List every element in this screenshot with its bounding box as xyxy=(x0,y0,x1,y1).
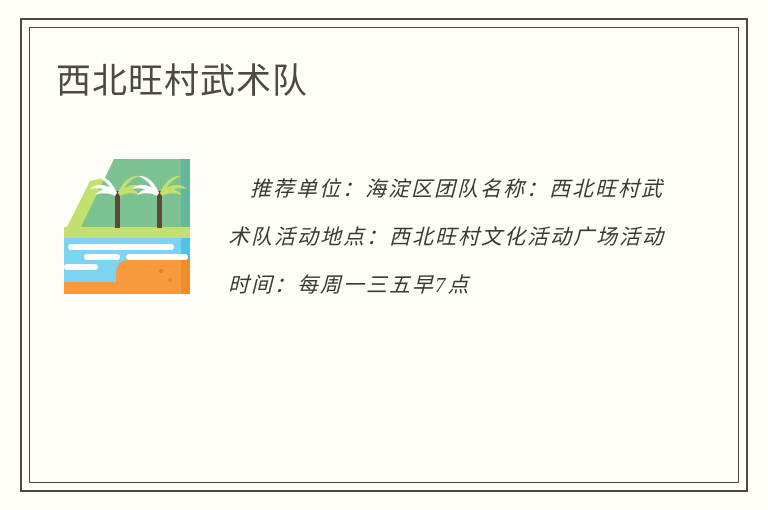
card-details-text: 推荐单位：海淀区团队名称：西北旺村武术队活动地点：西北旺村文化活动广场活动时间：… xyxy=(228,165,680,309)
page-title: 西北旺村武术队 xyxy=(56,60,308,104)
detail-location: 活动地点：西北旺村文化活动广场 xyxy=(274,225,619,249)
card-page: 西北旺村武术队 xyxy=(0,0,768,510)
detail-recommender: 推荐单位：海淀区 xyxy=(228,177,434,201)
beach-island-illustration-icon xyxy=(60,147,207,300)
